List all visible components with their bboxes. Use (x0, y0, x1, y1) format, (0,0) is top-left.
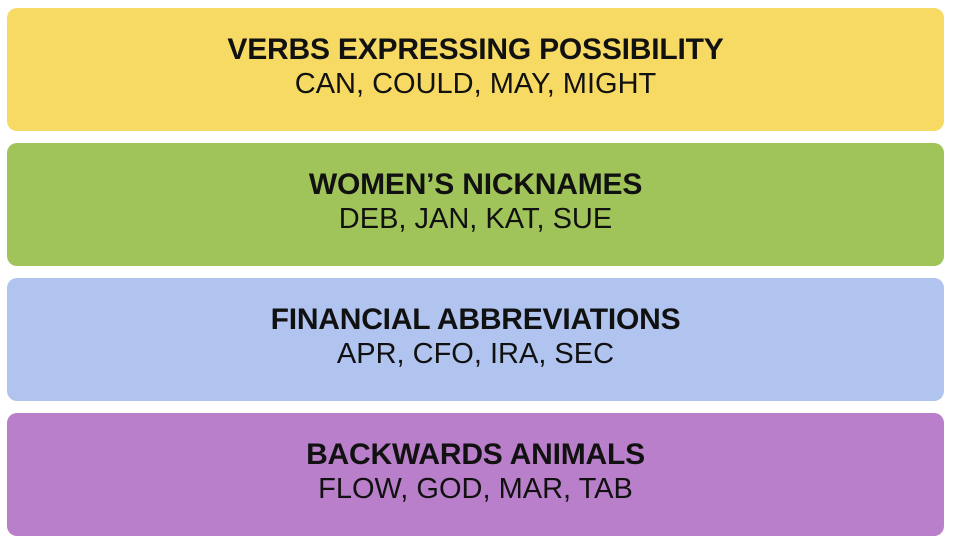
group-card-purple[interactable]: BACKWARDS ANIMALS FLOW, GOD, MAR, TAB (7, 413, 944, 536)
connections-solution-board: VERBS EXPRESSING POSSIBILITY CAN, COULD,… (0, 0, 960, 541)
group-category-label: VERBS EXPRESSING POSSIBILITY (227, 33, 723, 67)
group-members-label: FLOW, GOD, MAR, TAB (318, 472, 633, 506)
group-category-label: BACKWARDS ANIMALS (306, 438, 645, 472)
group-members-label: CAN, COULD, MAY, MIGHT (295, 67, 656, 101)
group-category-label: FINANCIAL ABBREVIATIONS (271, 303, 681, 337)
group-card-blue[interactable]: FINANCIAL ABBREVIATIONS APR, CFO, IRA, S… (7, 278, 944, 401)
group-members-label: DEB, JAN, KAT, SUE (339, 202, 612, 236)
group-category-label: WOMEN’S NICKNAMES (309, 168, 642, 202)
group-members-label: APR, CFO, IRA, SEC (337, 337, 614, 371)
group-card-green[interactable]: WOMEN’S NICKNAMES DEB, JAN, KAT, SUE (7, 143, 944, 266)
group-card-yellow[interactable]: VERBS EXPRESSING POSSIBILITY CAN, COULD,… (7, 8, 944, 131)
